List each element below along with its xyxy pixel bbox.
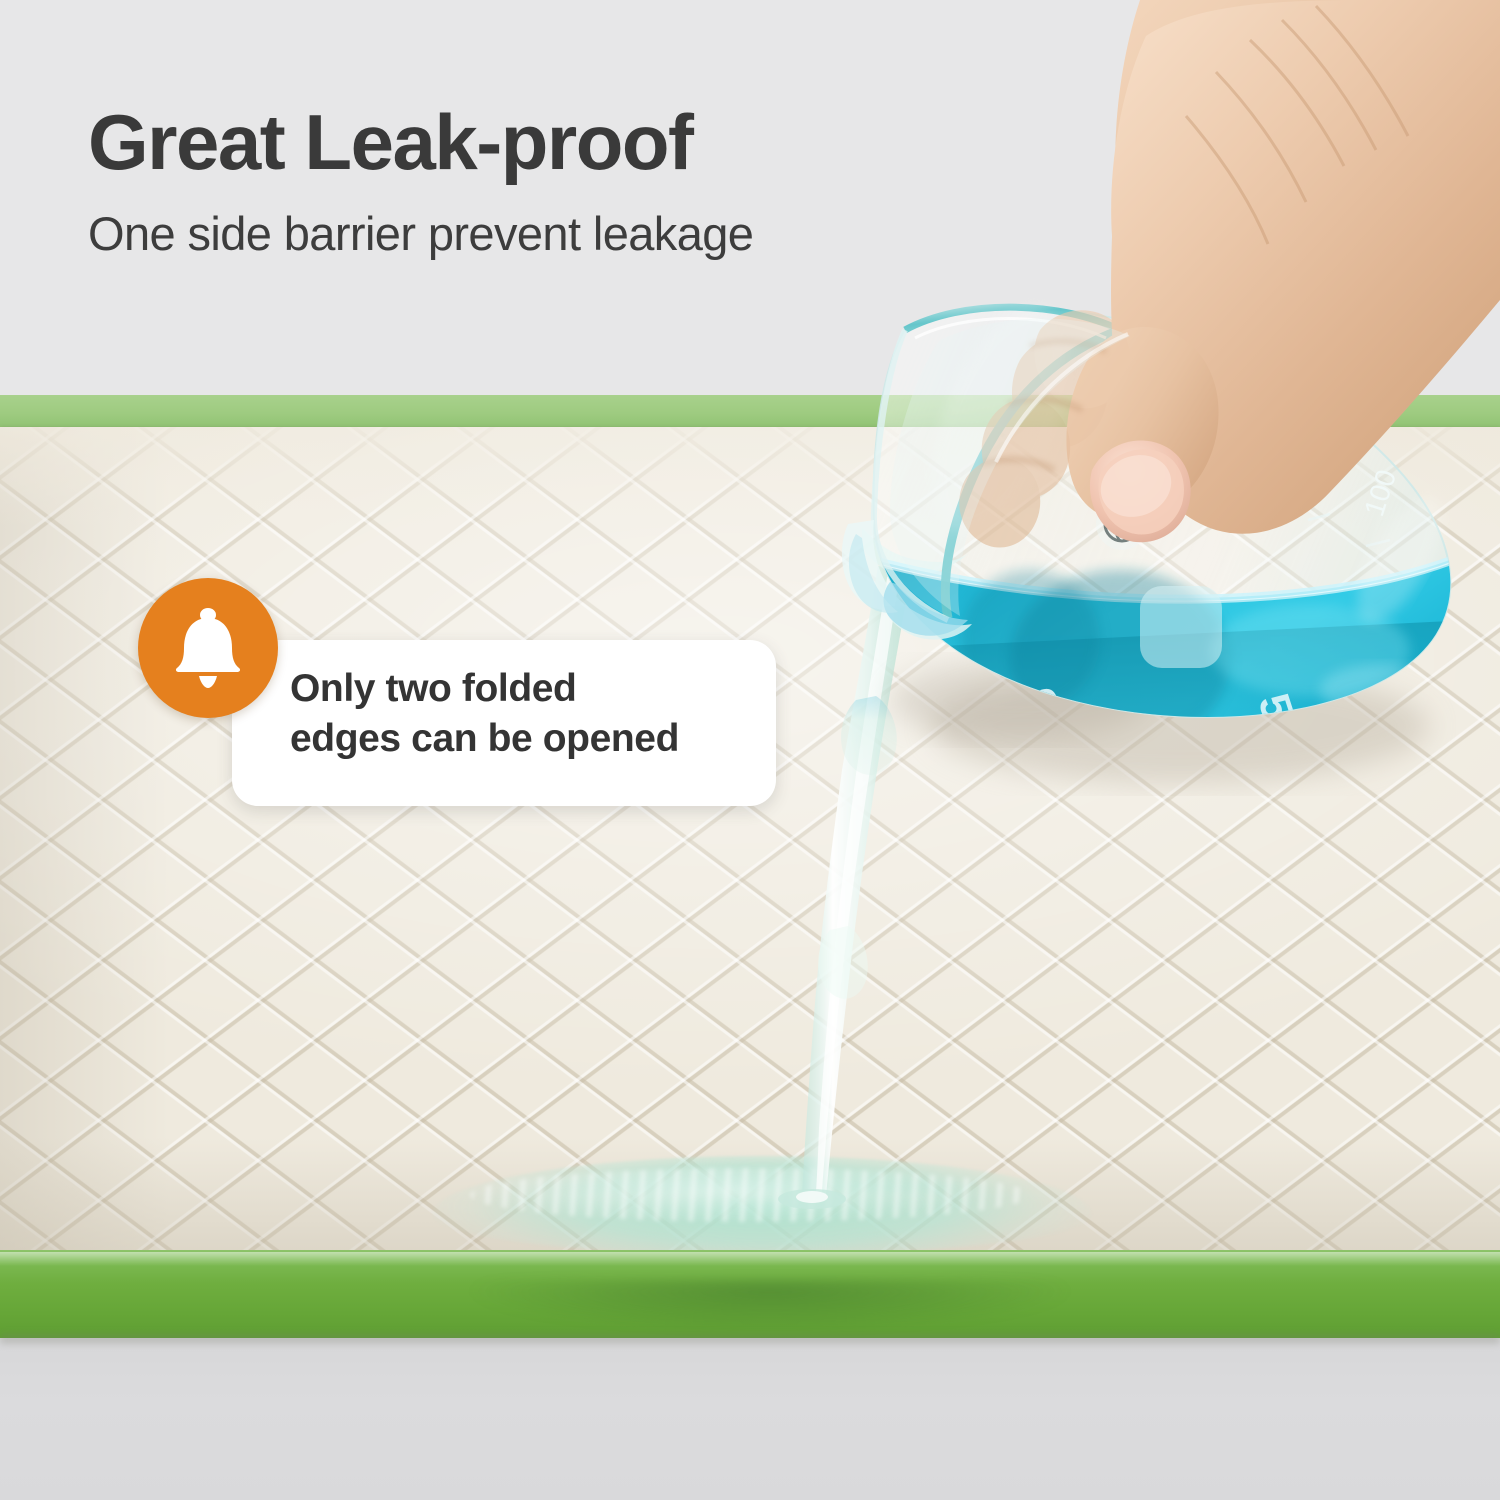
pad-surface	[0, 427, 1500, 1253]
pad-lighting	[0, 427, 1500, 1253]
pool-highlight	[470, 1168, 1030, 1222]
callout-text: Only two folded edges can be opened	[290, 664, 760, 764]
pad-edge-sheen	[0, 1252, 1500, 1266]
bell-icon	[168, 606, 248, 690]
pad-bottom-edge	[0, 1250, 1500, 1338]
floor	[0, 1336, 1500, 1500]
product-feature-image: Great Leak-proof One side barrier preven…	[0, 0, 1500, 1500]
page-subtitle: One side barrier prevent leakage	[88, 210, 753, 257]
pad-top-edge	[0, 395, 1500, 429]
pad-edge-wet-area	[420, 1280, 1120, 1336]
header-band: Great Leak-proof One side barrier preven…	[0, 0, 1500, 396]
page-title: Great Leak-proof	[88, 103, 692, 181]
callout-badge	[138, 578, 278, 718]
